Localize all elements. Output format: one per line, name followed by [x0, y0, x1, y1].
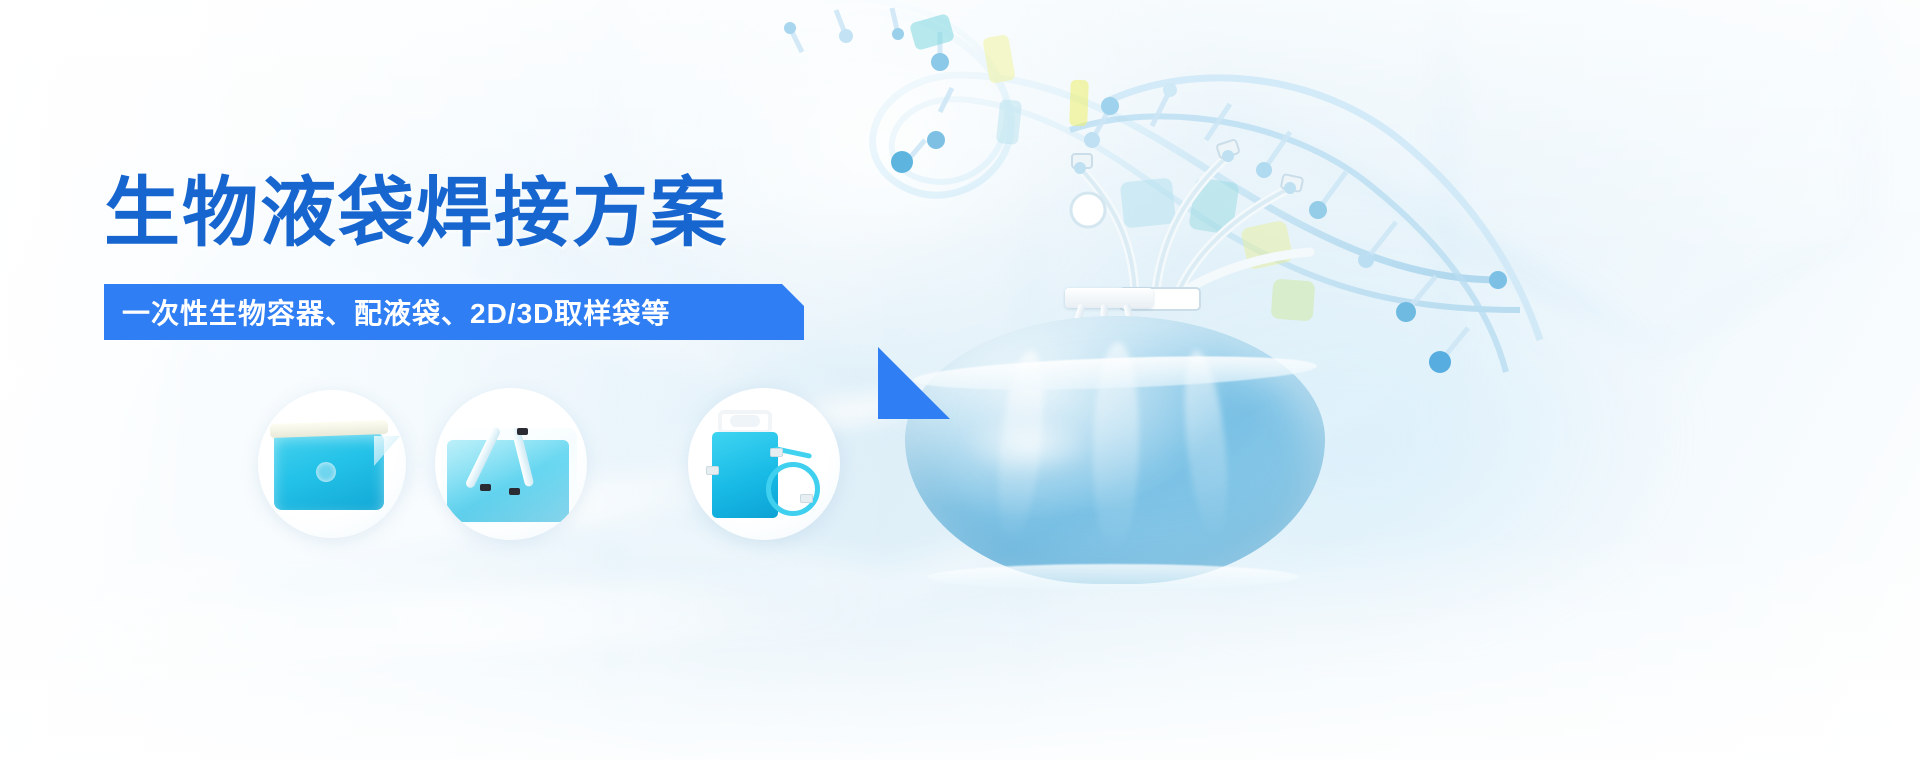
bag-bottom-seam: [927, 564, 1299, 590]
bag-corner-fold: [374, 436, 400, 466]
bag-body: [905, 316, 1325, 584]
tube-connector-1: [770, 448, 783, 457]
tube-clamp-1: [517, 428, 528, 435]
sampling-bag-coil-icon: [712, 432, 778, 518]
tube-clamp-3: [509, 488, 520, 495]
background-streak-3: [0, 569, 901, 676]
page-title: 生物液袋焊接方案: [104, 176, 728, 252]
bag-highlight: [963, 412, 1093, 476]
tube-connector-2: [800, 494, 813, 503]
product-thumb-1[interactable]: [258, 390, 406, 538]
hero-banner: 生物液袋焊接方案 一次性生物容器、配液袋、2D/3D取样袋等: [0, 0, 1920, 760]
bag-coiled-tube: [766, 462, 820, 516]
subtitle-text: 一次性生物容器、配液袋、2D/3D取样袋等: [122, 292, 670, 332]
filter-disc-icon: [1071, 193, 1105, 227]
tube-clamp-2: [480, 484, 491, 491]
tube-connector-3: [706, 466, 719, 475]
big-bioprocess-bag: [905, 300, 1325, 600]
product-thumb-2[interactable]: [435, 388, 587, 540]
product-thumb-3[interactable]: [688, 388, 840, 540]
bag-hang-hole: [730, 415, 760, 427]
bag-outer-film: [441, 428, 577, 524]
subtitle-banner: 一次性生物容器、配液袋、2D/3D取样袋等: [104, 284, 804, 340]
bag-port-icon: [316, 462, 336, 482]
